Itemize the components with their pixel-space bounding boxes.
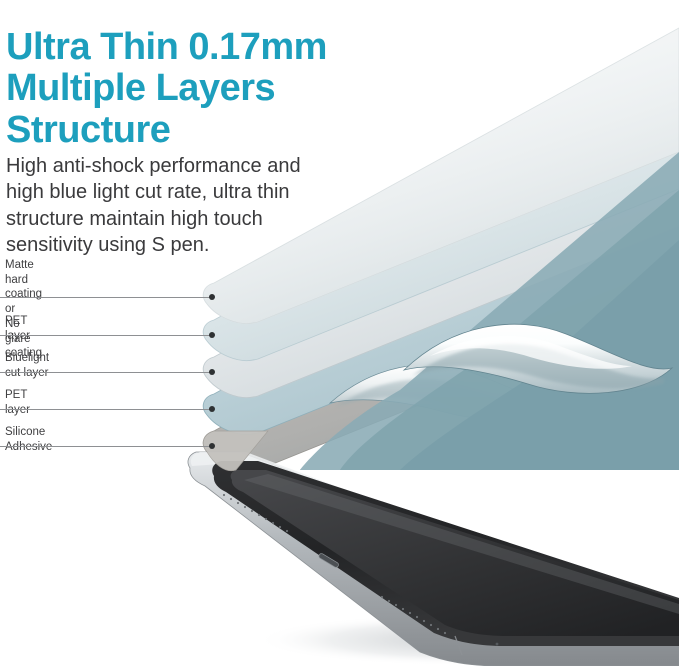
leader-line-matte-hard-coating <box>0 297 212 298</box>
leader-dot-silicone-adhesive <box>209 443 215 449</box>
leader-line-bluelight-cut-layer <box>0 372 212 373</box>
callout-label-bluelight-cut-layer: Bluelight cut layer <box>5 351 49 380</box>
tablet-device <box>188 452 679 666</box>
callout-label-matte-hard-coating: Matte hard coating or No glare coating <box>5 258 42 361</box>
leader-dot-pet-layer-bottom <box>209 406 215 412</box>
product-feature-graphic: Ultra Thin 0.17mm Multiple Layers Struct… <box>0 0 679 666</box>
leader-line-pet-layer-bottom <box>0 409 212 410</box>
leader-dot-bluelight-cut-layer <box>209 369 215 375</box>
leader-dot-matte-hard-coating <box>209 294 215 300</box>
description-paragraph: High anti-shock performance and high blu… <box>6 153 326 259</box>
leader-line-silicone-adhesive <box>0 446 212 447</box>
callout-label-pet-layer-bottom: PET layer <box>5 388 30 417</box>
callout-label-pet-layer-top: PET layer <box>5 314 30 343</box>
page-title: Ultra Thin 0.17mm Multiple Layers Struct… <box>6 27 406 150</box>
leader-dot-pet-layer-top <box>209 332 215 338</box>
leader-line-pet-layer-top <box>0 335 212 336</box>
callout-label-silicone-adhesive: Silicone Adhesive <box>5 425 52 454</box>
